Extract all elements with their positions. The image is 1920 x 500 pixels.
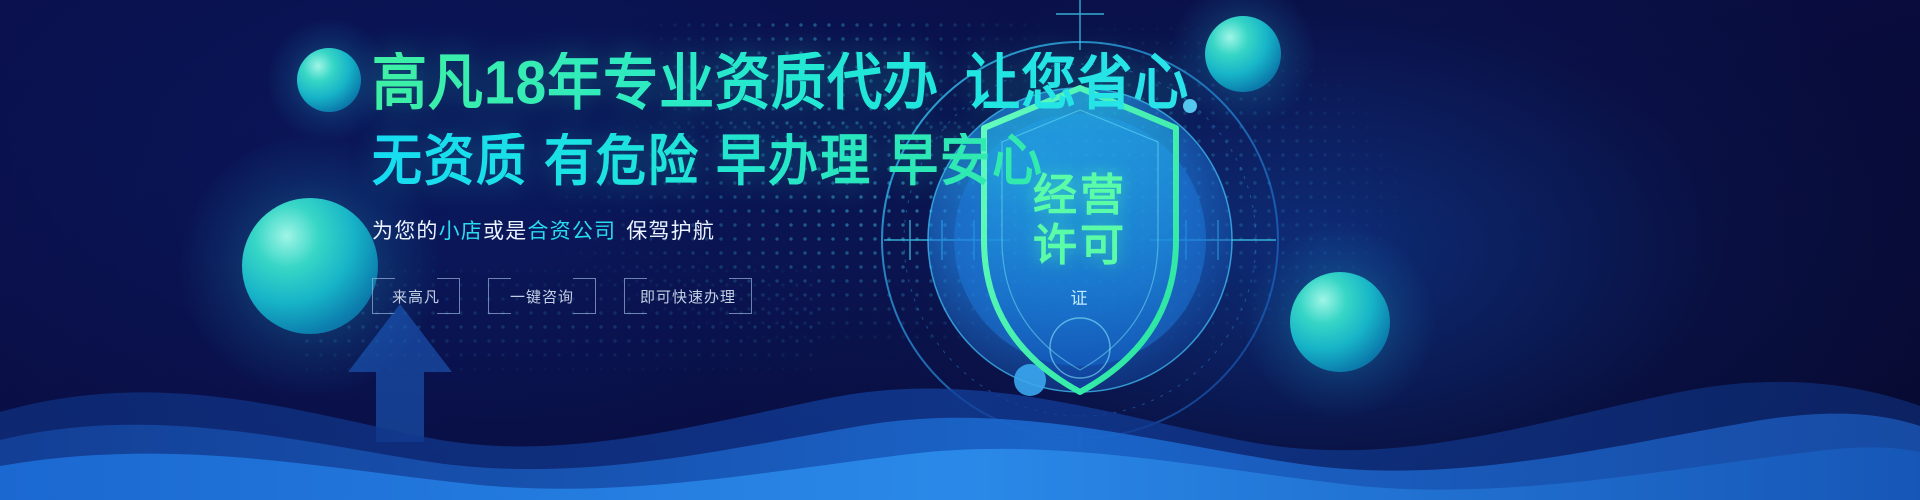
subline-mid: 或是 (483, 220, 527, 243)
subline-prefix: 为您的 (372, 220, 439, 243)
subline: 为您的小店或是合资公司保驾护航 (372, 215, 1192, 245)
copy-block: 高凡18年专业资质代办让您省心更省力 无资质有危险早办理早安心 为您的小店或是合… (372, 52, 1192, 313)
cta-button-label: 即可快速办理 (640, 286, 736, 307)
headline-secondary-1: 有危险 (544, 130, 700, 193)
headline-secondary-0: 无资质 (372, 130, 528, 193)
promo-banner: 经营 许可 证 高凡18年专业资质代办让您省心更省力 无资质有危险早办理早安心 … (0, 0, 1920, 500)
cta-button-label: 来高凡 (392, 286, 440, 307)
subline-highlight-1: 小店 (439, 220, 483, 243)
headline-secondary-2: 早办理 (716, 130, 872, 193)
headline-secondary: 无资质有危险早办理早安心 (372, 133, 1192, 189)
decorative-sphere (297, 48, 361, 112)
headline-primary: 高凡18年专业资质代办让您省心更省力 (372, 52, 1192, 114)
headline-secondary-3: 早安心 (888, 130, 1044, 193)
headline-primary-b: 让您省心更省力 (965, 48, 1357, 117)
subline-highlight-2: 合资公司 (527, 220, 616, 243)
cta-button-label: 一键咨询 (510, 286, 574, 307)
subline-suffix: 保驾护航 (626, 220, 715, 243)
headline-primary-a: 高凡18年专业资质代办 (372, 48, 939, 117)
wave-decoration (0, 320, 1920, 500)
